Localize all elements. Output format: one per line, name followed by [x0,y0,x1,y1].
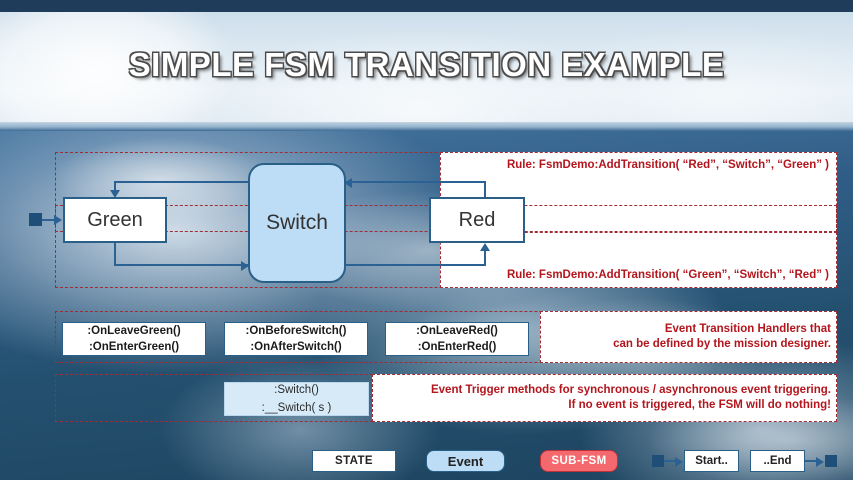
arrowhead-into-red [480,243,490,251]
legend-subfsm-label: SUB-FSM [551,455,606,467]
slide-canvas: SIMPLE FSM TRANSITION EXAMPLE Rule: FsmD… [0,0,853,480]
handlers-note-line-2: can be defined by the mission designer. [546,337,831,352]
state-box-red[interactable]: Red [429,197,525,243]
handlers-note-line-1: Event Transition Handlers that [546,322,831,337]
legend-start-box: Start.. [684,450,739,472]
rule-text-red-switch-green: Rule: FsmDemo:AddTransition( “Red”, “Swi… [440,158,829,173]
connector-green-to-switch-vertical [114,243,116,265]
handlers-red[interactable]: :OnLeaveRed() :OnEnterRed() [385,322,529,356]
handler-line-on-before-switch: :OnBeforeSwitch() [246,323,347,339]
handler-line-on-enter-green: :OnEnterGreen() [89,339,179,355]
handlers-note: Event Transition Handlers that can be de… [546,322,831,352]
event-label-switch: Switch [266,211,328,235]
handlers-switch[interactable]: :OnBeforeSwitch() :OnAfterSwitch() [224,322,368,356]
connector-switch-to-red-horizontal [345,264,485,266]
start-square-marker [29,213,42,226]
trigger-methods-box[interactable]: :Switch() :__Switch( s ) [224,382,369,416]
legend-end-square-icon [825,455,837,467]
legend-event-label: Event [448,454,483,469]
legend-end-box: ..End [750,450,805,472]
trigger-line-switch: :Switch() [274,381,319,399]
handler-line-on-leave-red: :OnLeaveRed() [416,323,498,339]
state-label-green: Green [87,209,143,232]
rule-text-green-switch-red: Rule: FsmDemo:AddTransition( “Green”, “S… [440,268,829,283]
handler-line-on-after-switch: :OnAfterSwitch() [250,339,341,355]
state-label-red: Red [459,209,496,232]
connector-green-to-switch-horizontal [114,264,248,266]
legend-state: STATE [312,450,396,472]
legend-start-arrowhead-icon [675,457,683,467]
legend-start-label: Start.. [695,455,728,467]
triggers-note-line-1: Event Trigger methods for synchronous / … [378,383,831,398]
handler-line-on-leave-green: :OnLeaveGreen() [87,323,180,339]
triggers-note: Event Trigger methods for synchronous / … [378,383,831,413]
header-divider [0,122,853,131]
event-box-switch[interactable]: Switch [248,163,346,283]
connector-switch-to-red-vertical [484,250,486,266]
trigger-line-private-switch: :__Switch( s ) [262,399,332,417]
handler-line-on-enter-red: :OnEnterRed() [418,339,497,355]
top-navy-bar [0,0,853,12]
legend-event: Event [426,450,505,472]
handlers-green[interactable]: :OnLeaveGreen() :OnEnterGreen() [62,322,206,356]
connector-switch-to-green-horizontal [115,181,250,183]
page-title: SIMPLE FSM TRANSITION EXAMPLE [0,46,853,84]
legend-subfsm: SUB-FSM [540,450,618,472]
triggers-note-line-2: If no event is triggered, the FSM will d… [378,398,831,413]
arrowhead-into-green-start [54,215,62,225]
legend-start-square-icon [652,455,664,467]
legend-state-label: STATE [335,455,373,467]
legend-end-arrowhead-icon [816,457,824,467]
state-box-green[interactable]: Green [63,197,167,243]
connector-red-to-switch-horizontal [346,181,485,183]
legend-end-label: ..End [763,455,791,467]
